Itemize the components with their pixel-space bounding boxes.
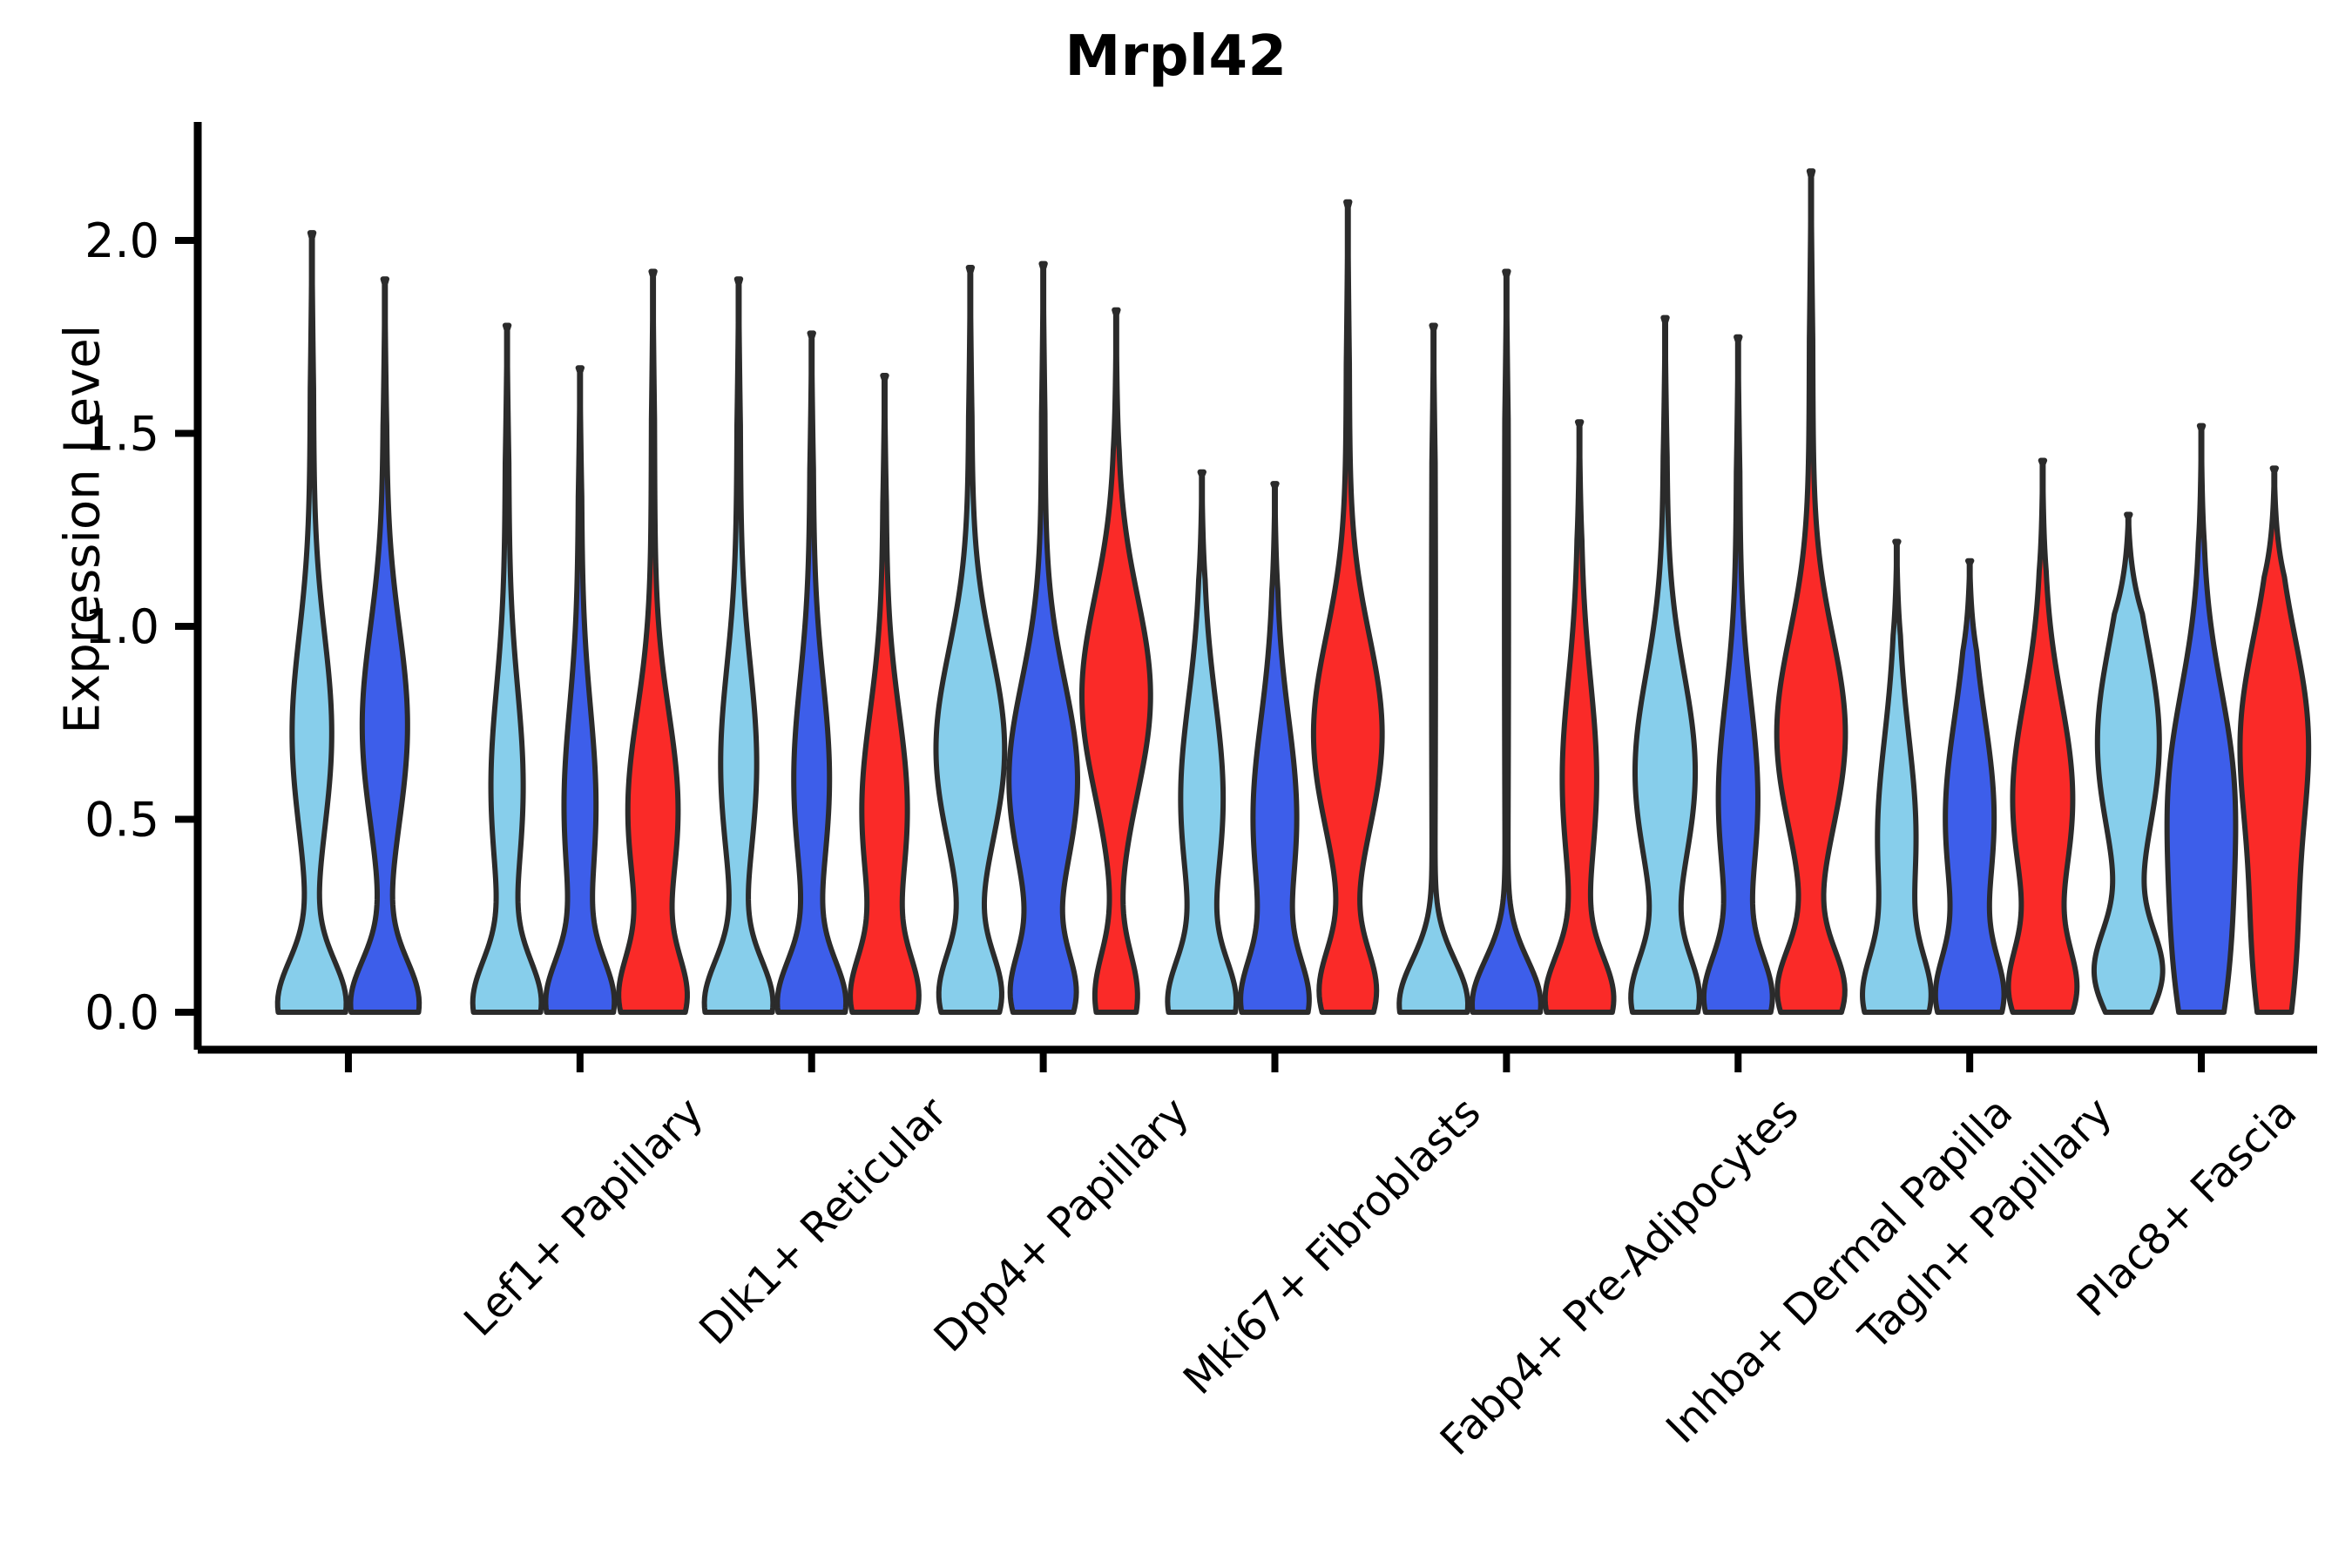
y-tick-label: 2.0 [84,213,159,268]
violin-royal_blue-0[interactable] [350,279,419,1012]
violin-red-3[interactable] [1082,310,1151,1012]
violin-red-4[interactable] [1314,202,1382,1012]
violin-light_blue-4[interactable] [1167,472,1236,1012]
violin-royal_blue-1[interactable] [545,368,614,1012]
y-tick-label-group: 0.00.51.01.52.0 [84,213,159,1040]
y-tick-label: 0.0 [84,985,159,1040]
violin-royal_blue-7[interactable] [1936,561,2004,1012]
violin-red-2[interactable] [850,375,919,1012]
violin-group [278,171,2308,1012]
violin-royal_blue-2[interactable] [777,333,846,1012]
violin-royal_blue-5[interactable] [1472,271,1541,1012]
y-tick-label: 1.0 [84,599,159,654]
y-tick-label: 1.5 [84,407,159,462]
violin-royal_blue-4[interactable] [1240,483,1309,1012]
violin-light_blue-0[interactable] [278,233,347,1012]
y-tick-label: 0.5 [84,793,159,848]
violin-red-1[interactable] [618,271,687,1012]
chart-canvas: 0.00.51.01.52.0 [0,0,2352,1568]
violin-red-8[interactable] [2240,468,2308,1012]
violin-light_blue-1[interactable] [473,325,542,1012]
violin-red-6[interactable] [1777,171,1846,1012]
violin-light_blue-6[interactable] [1631,318,1700,1012]
violin-red-7[interactable] [2009,461,2078,1012]
violin-light_blue-5[interactable] [1399,325,1468,1012]
violin-royal_blue-6[interactable] [1704,337,1773,1012]
violin-royal_blue-8[interactable] [2167,426,2236,1012]
violin-light_blue-8[interactable] [2094,515,2163,1012]
violin-royal_blue-3[interactable] [1009,264,1078,1012]
violin-light_blue-2[interactable] [705,279,774,1012]
violin-red-5[interactable] [1545,422,1614,1012]
violin-plot-figure: Mrpl42 Expression Level 0.00.51.01.52.0 … [0,0,2352,1568]
violin-light_blue-7[interactable] [1862,542,1931,1012]
violin-light_blue-3[interactable] [936,267,1004,1012]
